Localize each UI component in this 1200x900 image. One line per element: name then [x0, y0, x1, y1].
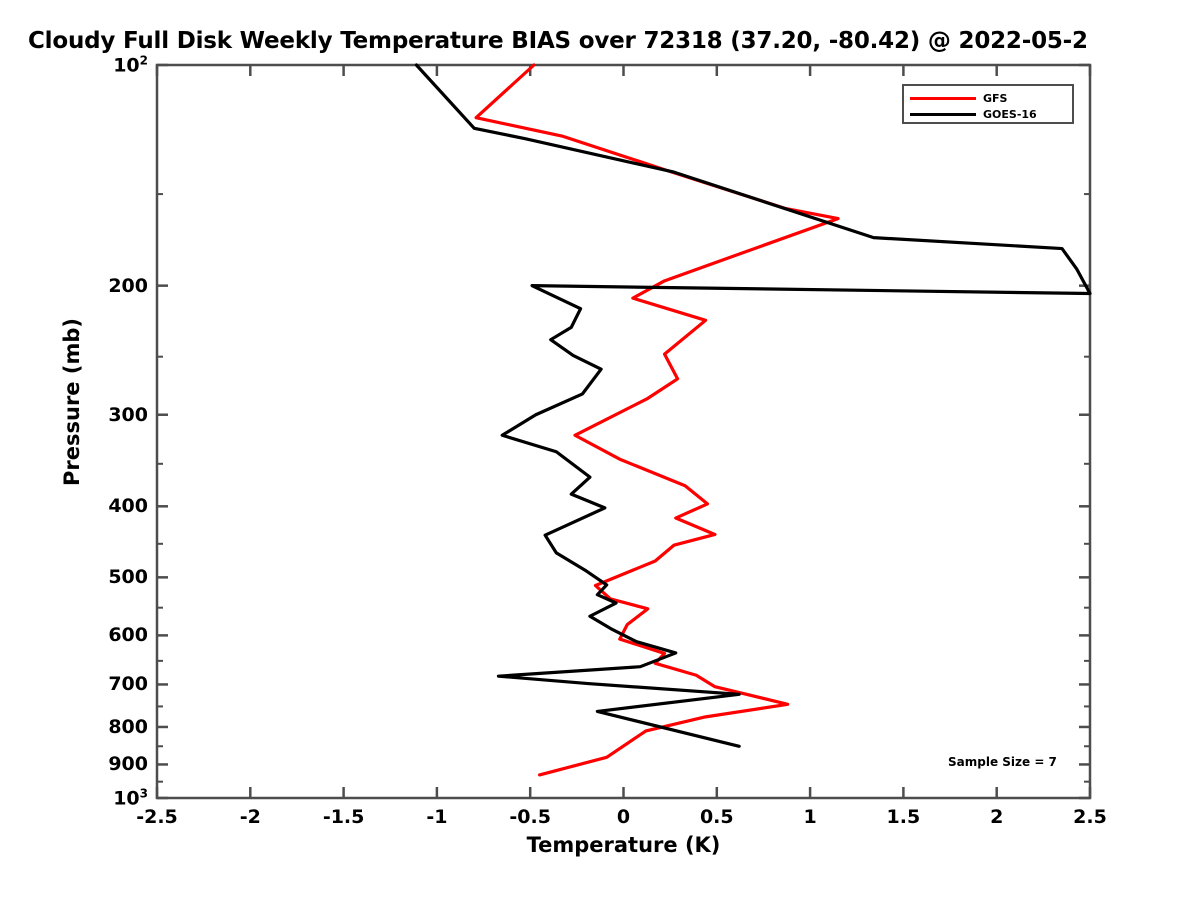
x-tick-label: -1.5	[323, 806, 365, 828]
legend-label-gfs: GFS	[983, 93, 1007, 104]
y-tick-label: 200	[60, 275, 148, 297]
series-line-goes-16	[416, 65, 1090, 746]
x-tick-label: -1	[426, 806, 447, 828]
chart-figure: Cloudy Full Disk Weekly Temperature BIAS…	[0, 0, 1200, 900]
y-tick-label: 102	[60, 53, 148, 76]
y-tick-label: 400	[60, 495, 148, 517]
x-tick-label: -0.5	[509, 806, 551, 828]
y-tick-label: 600	[60, 624, 148, 646]
legend-label-goes16: GOES-16	[983, 109, 1037, 120]
x-tick-label: 0	[617, 806, 630, 828]
y-tick-label: 300	[60, 404, 148, 426]
x-tick-label: 2.5	[1073, 806, 1107, 828]
y-tick-label: 700	[60, 673, 148, 695]
axis-frame-box	[157, 65, 1090, 798]
legend-item-goes16: GOES-16	[910, 106, 1066, 122]
sample-size-annotation: Sample Size = 7	[948, 755, 1057, 769]
y-tick-label: 900	[60, 753, 148, 775]
x-tick-label: 2	[990, 806, 1003, 828]
x-tick-label: -2	[240, 806, 261, 828]
series-line-gfs	[476, 65, 838, 775]
legend-item-gfs: GFS	[910, 90, 1066, 106]
y-tick-label: 800	[60, 716, 148, 738]
y-tick-label: 500	[60, 566, 148, 588]
legend-swatch-goes16-icon	[910, 113, 976, 116]
x-tick-label: 0.5	[700, 806, 734, 828]
x-tick-label: 1	[803, 806, 816, 828]
x-tick-label: 1.5	[887, 806, 921, 828]
legend-swatch-gfs-icon	[910, 97, 976, 100]
chart-legend: GFS GOES-16	[902, 84, 1074, 124]
y-tick-label: 103	[60, 786, 148, 809]
